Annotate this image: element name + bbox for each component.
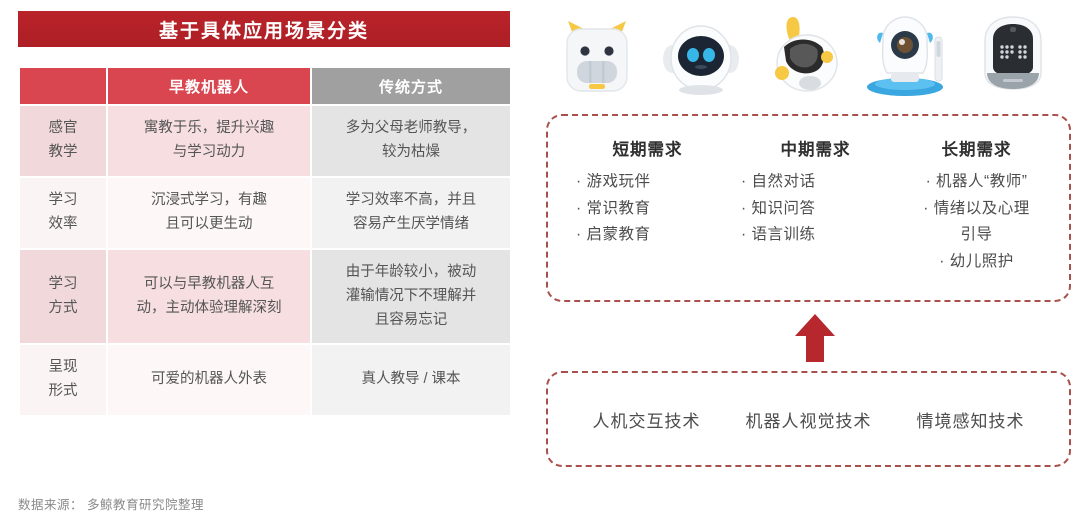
needs-item: · 情绪以及心理	[898, 196, 1055, 223]
row-traditional-cell: 多为父母老师教导，较为枯燥	[312, 106, 510, 176]
needs-and-tech-panel: 短期需求 · 游戏玩伴 · 常识教育 · 启蒙教育 中期需求 · 自然对话 · …	[530, 0, 1080, 526]
table-row: 呈现形式 可爱的机器人外表 真人教导 / 课本	[20, 345, 510, 415]
needs-heading-mid-term: 中期需求	[741, 136, 898, 160]
upward-arrow-icon	[794, 314, 836, 362]
row-traditional-cell: 学习效率不高，并且容易产生厌学情绪	[312, 178, 510, 248]
needs-column-long-term: 长期需求 · 机器人“教师” · 情绪以及心理 引导 · 幼儿照护	[898, 136, 1055, 276]
table-header-row: 早教机器人 传统方式	[20, 68, 510, 104]
row-robot-cell: 可以与早教机器人互动，主动体验理解深刻	[108, 250, 310, 344]
needs-item: · 启蒙教育	[576, 222, 733, 249]
table-row: 感官教学 寓教于乐，提升兴趣与学习动力 多为父母老师教导，较为枯燥	[20, 106, 510, 176]
row-category-label: 学习效率	[20, 178, 106, 248]
needs-heading-short-term: 短期需求	[576, 136, 733, 160]
needs-item: · 幼儿照护	[898, 249, 1055, 276]
row-traditional-cell: 由于年龄较小，被动灌输情况下不理解并且容易忘记	[312, 250, 510, 344]
needs-item: · 游戏玩伴	[576, 169, 733, 196]
needs-item: 引导	[898, 222, 1055, 249]
robot-blue-stand-camera-icon	[860, 9, 958, 101]
row-category-label: 学习方式	[20, 250, 106, 344]
table-title-banner: 基于具体应用场景分类	[18, 11, 510, 47]
robot-dark-screen-dotface-icon	[964, 9, 1062, 101]
robot-round-blue-eyes-icon	[652, 9, 750, 101]
needs-item: · 机器人“教师”	[898, 169, 1055, 196]
column-header-traditional: 传统方式	[312, 68, 510, 104]
row-category-label: 呈现形式	[20, 345, 106, 415]
needs-heading-long-term: 长期需求	[898, 136, 1055, 160]
row-category-label: 感官教学	[20, 106, 106, 176]
column-header-category	[20, 68, 106, 104]
row-traditional-cell: 真人教导 / 课本	[312, 345, 510, 415]
robot-cat-square-white-icon	[548, 9, 646, 101]
robot-product-strip	[540, 6, 1070, 104]
table-row: 学习方式 可以与早教机器人互动，主动体验理解深刻 由于年龄较小，被动灌输情况下不…	[20, 250, 510, 344]
needs-item: · 自然对话	[741, 169, 898, 196]
comparison-table-panel: 基于具体应用场景分类 早教机器人 传统方式 感官教学 寓教于乐，提升兴趣与学习动…	[0, 0, 530, 526]
data-source-note: 数据来源： 多鲸教育研究院整理	[18, 494, 204, 513]
row-robot-cell: 沉浸式学习，有趣且可以更生动	[108, 178, 310, 248]
technology-row: 人机交互技术 机器人视觉技术 情境感知技术	[546, 371, 1071, 467]
needs-item: · 常识教育	[576, 196, 733, 223]
technology-item: 人机交互技术	[593, 407, 701, 432]
technology-item: 情境感知技术	[917, 407, 1025, 432]
comparison-table: 早教机器人 传统方式 感官教学 寓教于乐，提升兴趣与学习动力 多为父母老师教导，…	[18, 66, 512, 417]
needs-column-mid-term: 中期需求 · 自然对话 · 知识问答 · 语言训练	[733, 136, 898, 249]
row-robot-cell: 可爱的机器人外表	[108, 345, 310, 415]
needs-columns: 短期需求 · 游戏玩伴 · 常识教育 · 启蒙教育 中期需求 · 自然对话 · …	[546, 114, 1071, 302]
row-robot-cell: 寓教于乐，提升兴趣与学习动力	[108, 106, 310, 176]
slide-root: 基于具体应用场景分类 早教机器人 传统方式 感官教学 寓教于乐，提升兴趣与学习动…	[0, 0, 1080, 526]
technology-item: 机器人视觉技术	[746, 407, 872, 432]
table-row: 学习效率 沉浸式学习，有趣且可以更生动 学习效率不高，并且容易产生厌学情绪	[20, 178, 510, 248]
needs-item: · 语言训练	[741, 222, 898, 249]
needs-item: · 知识问答	[741, 196, 898, 223]
column-header-robot: 早教机器人	[108, 68, 310, 104]
needs-column-short-term: 短期需求 · 游戏玩伴 · 常识教育 · 启蒙教育	[562, 136, 733, 249]
robot-yellow-ear-tilted-icon	[756, 9, 854, 101]
